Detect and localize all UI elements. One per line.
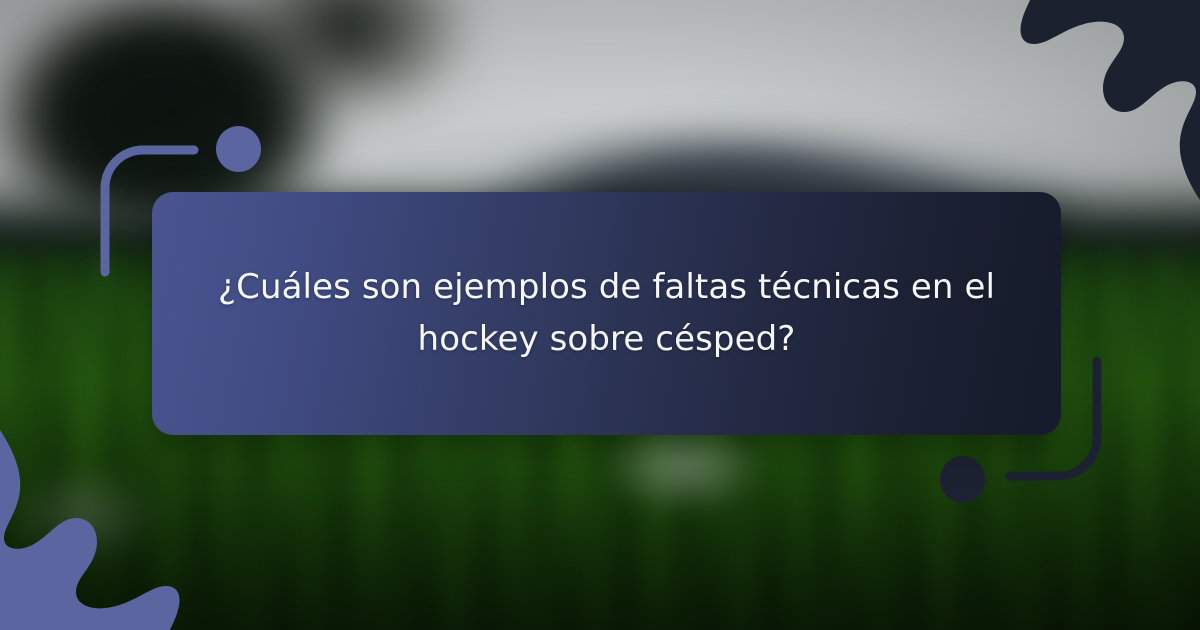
accent-dot-icon [216,126,261,172]
question-text: ¿Cuáles son ejemplos de faltas técnicas … [210,262,1003,365]
dark-dot-icon [940,456,985,503]
question-card: ¿Cuáles son ejemplos de faltas técnicas … [152,192,1061,435]
social-card-canvas: ¿Cuáles son ejemplos de faltas técnicas … [0,0,1200,630]
